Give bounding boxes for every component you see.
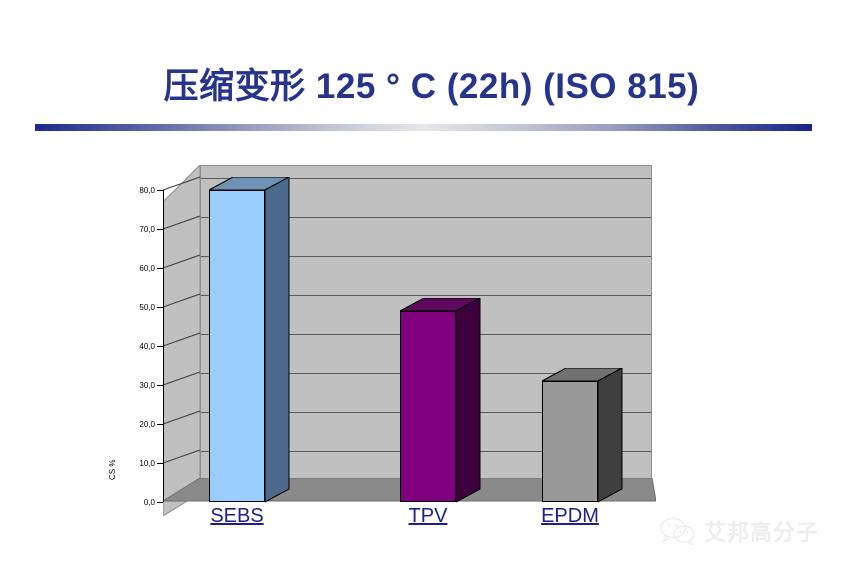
page-title: 压缩变形 125 ° C (22h) (ISO 815) xyxy=(0,58,863,109)
y-axis-tick xyxy=(157,502,163,503)
y-axis-tick xyxy=(157,229,163,230)
y-axis-tick-label: 80,0 xyxy=(115,186,155,195)
watermark: 艾邦高分子 xyxy=(660,515,819,547)
category-label-epdm: EPDM xyxy=(510,505,630,528)
y-axis-tick-label: 30,0 xyxy=(115,381,155,390)
y-axis-tick xyxy=(157,463,163,464)
bar-sebs xyxy=(209,190,265,502)
y-axis-tick-label: 20,0 xyxy=(115,420,155,429)
bar-side-face xyxy=(456,311,480,502)
bar-front-face xyxy=(400,311,456,502)
bar-chart: 0,010,020,030,040,050,060,070,080,0 CS % xyxy=(0,150,863,550)
y-axis-tick-label: 50,0 xyxy=(115,303,155,312)
bar-epdm xyxy=(542,381,598,502)
watermark-text: 艾邦高分子 xyxy=(704,515,819,547)
y-axis-tick-label: 10,0 xyxy=(115,459,155,468)
y-axis-tick xyxy=(157,190,163,191)
bar-tpv xyxy=(400,311,456,502)
bar-front-face xyxy=(209,190,265,502)
title-divider xyxy=(35,124,812,131)
y-axis-tick-label: 60,0 xyxy=(115,264,155,273)
y-axis-tick xyxy=(157,268,163,269)
chart-left-wall xyxy=(163,165,201,516)
y-axis-labels: 0,010,020,030,040,050,060,070,080,0 xyxy=(110,190,155,502)
category-label-sebs: SEBS xyxy=(177,505,297,528)
y-axis-tick xyxy=(157,346,163,347)
y-axis-tick xyxy=(157,307,163,308)
y-axis-tick-label: 40,0 xyxy=(115,342,155,351)
y-axis-title: CS % xyxy=(108,460,117,480)
y-axis-tick xyxy=(157,424,163,425)
bar-side-face xyxy=(598,381,622,502)
y-axis-tick xyxy=(157,385,163,386)
bar-front-face xyxy=(542,381,598,502)
wechat-icon xyxy=(660,517,696,545)
y-axis-tick-label: 70,0 xyxy=(115,225,155,234)
y-axis-line xyxy=(163,190,164,502)
category-label-tpv: TPV xyxy=(368,505,488,528)
bar-side-face xyxy=(265,190,289,502)
